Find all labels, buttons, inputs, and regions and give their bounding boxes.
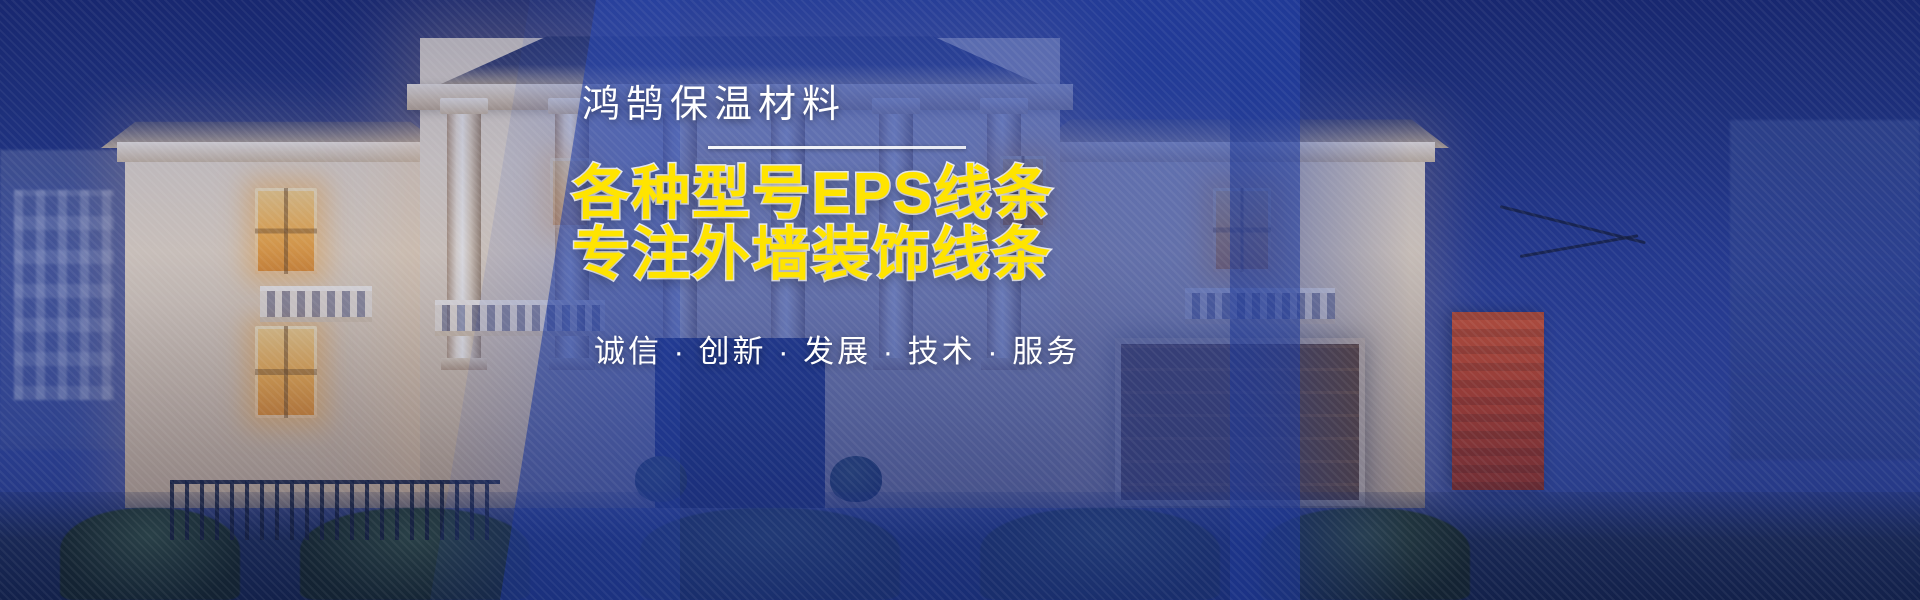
headline-divider [708, 146, 966, 149]
headline-line-2: 专注外墙装饰线条 [572, 224, 1340, 285]
headline: 各种型号EPS线条 专注外墙装饰线条 [560, 163, 1340, 286]
tagline: 诚信 · 创新 · 发展 · 技术 · 服务 [594, 326, 1340, 371]
hero-banner: 鸿鹄保温材料 各种型号EPS线条 专注外墙装饰线条 诚信 · 创新 · 发展 ·… [0, 0, 1920, 600]
brand-name: 鸿鹄保温材料 [582, 86, 1340, 124]
headline-line-1: 各种型号EPS线条 [572, 163, 1340, 224]
banner-copy: 鸿鹄保温材料 各种型号EPS线条 专注外墙装饰线条 诚信 · 创新 · 发展 ·… [560, 86, 1340, 371]
